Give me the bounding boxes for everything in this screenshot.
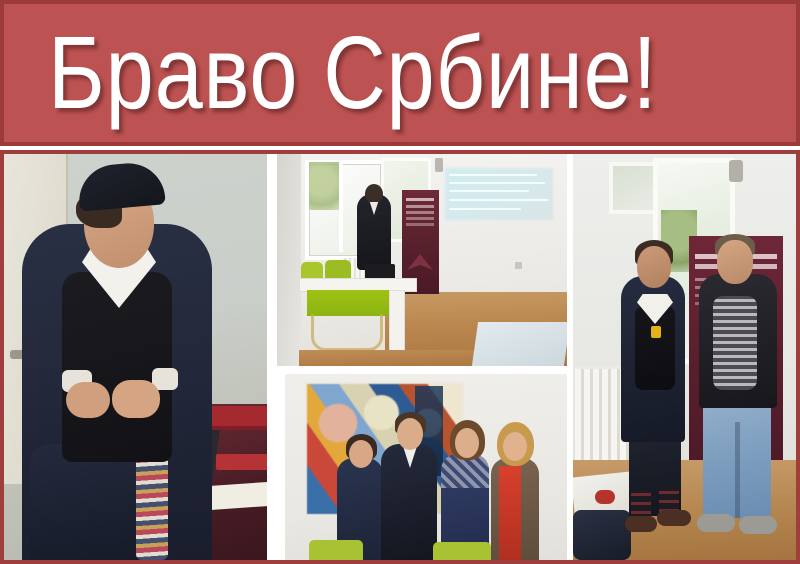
slide-text-line xyxy=(449,182,545,184)
man-2-shoe-left-shape xyxy=(697,514,735,532)
wall-speaker-shape xyxy=(435,158,443,172)
desk-leg-shape xyxy=(389,290,405,354)
person-4-head-shape xyxy=(503,432,527,461)
foreground-table-shape xyxy=(472,322,567,366)
slide-text-line xyxy=(449,199,549,201)
red-box-shape-2 xyxy=(216,454,267,470)
person-1-head-shape xyxy=(349,440,373,468)
person-4-red-top-shape xyxy=(499,466,521,560)
green-chair-shape xyxy=(309,540,363,560)
man-2-jeans-seam-shape xyxy=(735,422,740,518)
dark-bag-shape xyxy=(573,510,631,560)
slide-text-line xyxy=(449,190,529,192)
man-1-shoe-right-shape xyxy=(657,510,691,526)
green-chair-shape-2 xyxy=(433,542,491,560)
sajkaca-cap-shape xyxy=(76,160,166,211)
man-1-head-shape xyxy=(637,246,671,288)
wall-speaker-shape xyxy=(729,160,743,182)
man-2-shoe-right-shape xyxy=(739,516,777,534)
wall-socket-shape xyxy=(515,262,522,269)
man-1-badge-shape xyxy=(651,326,661,338)
red-box-shape xyxy=(210,406,267,426)
man-2-head-shape xyxy=(717,240,753,284)
person-3-head-shape xyxy=(455,428,479,458)
photo-group-painting xyxy=(285,374,567,560)
foliage-shape xyxy=(309,162,339,210)
desk-green-panel-shape xyxy=(307,290,389,316)
man-2-striped-shirt-shape xyxy=(713,296,757,390)
photo-presentation xyxy=(277,154,567,366)
slide-text-line xyxy=(449,174,537,176)
window-mullion-shape xyxy=(339,160,343,252)
folk-man-scene xyxy=(4,154,267,560)
group-scene xyxy=(285,374,567,560)
person-hand-left-shape xyxy=(66,382,110,418)
title-banner: Браво Србине! xyxy=(0,0,800,146)
paper-shape xyxy=(209,482,267,510)
slide-text-line xyxy=(449,208,521,210)
page-title: Браво Србине! xyxy=(48,23,658,124)
person-hand-right-shape xyxy=(112,380,160,418)
collage-poster: Браво Србине! xyxy=(0,0,800,564)
red-shoe-shape xyxy=(595,490,615,504)
chair-legs-shape xyxy=(311,314,383,351)
photo-two-men xyxy=(573,154,796,560)
presentation-scene xyxy=(277,154,567,366)
two-men-scene xyxy=(573,154,796,560)
wall-shape xyxy=(277,154,301,366)
person-2-head-shape xyxy=(397,418,423,450)
rollup-banner-text-shape xyxy=(406,198,434,201)
presenter-head-shape xyxy=(365,184,383,204)
man-1-shoe-left-shape xyxy=(625,516,657,532)
photo-collage xyxy=(0,150,800,564)
photo-folk-man xyxy=(4,154,267,560)
